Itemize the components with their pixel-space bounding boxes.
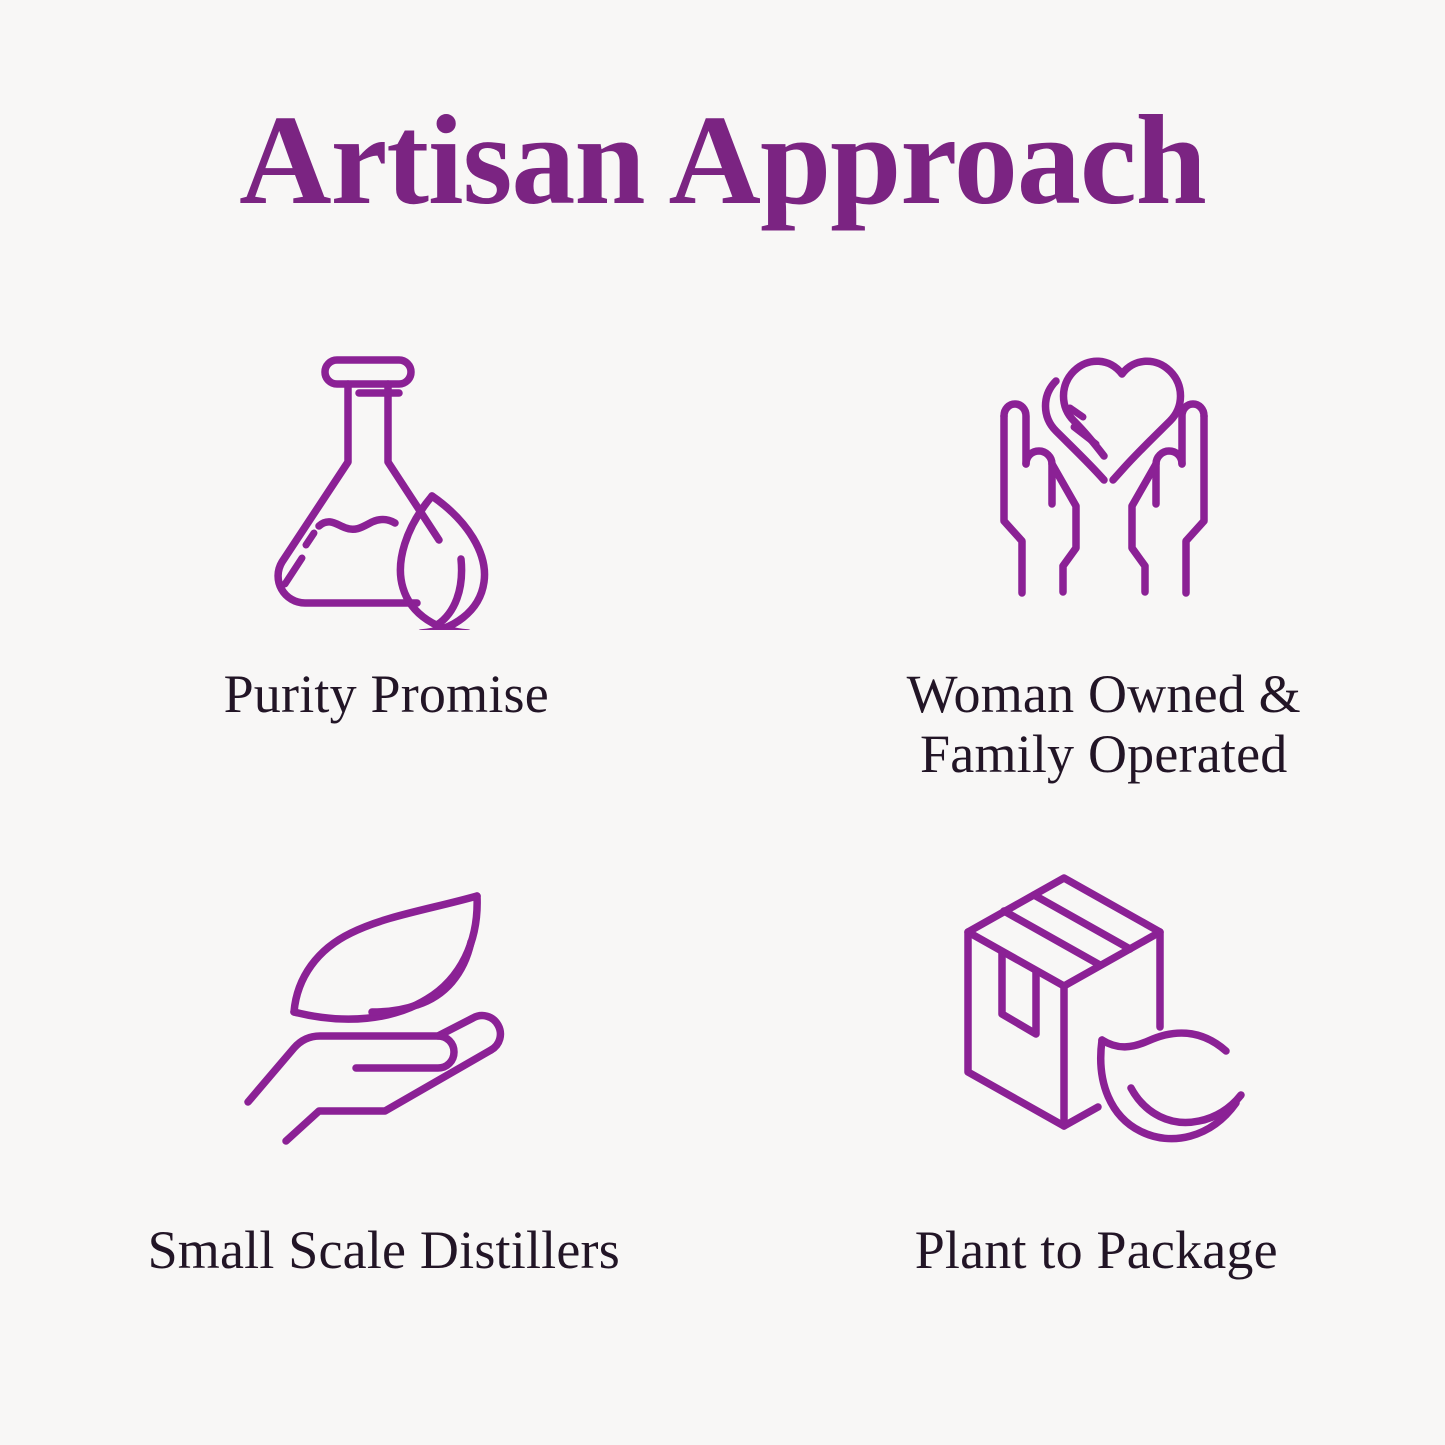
feature-label: Purity Promise bbox=[224, 664, 549, 724]
flask-leaf-icon bbox=[236, 330, 536, 630]
hand-holding-leaf-icon bbox=[234, 860, 534, 1160]
box-leaf-icon bbox=[946, 860, 1246, 1160]
page-title: Artisan Approach bbox=[0, 96, 1445, 224]
feature-item-woman-owned-family-operated: Woman Owned & Family Operated bbox=[723, 330, 1445, 860]
feature-item-purity-promise: Purity Promise bbox=[0, 330, 723, 860]
artisan-approach-graphic: Artisan Approach bbox=[0, 0, 1445, 1445]
hands-holding-heart-icon bbox=[954, 330, 1254, 630]
feature-item-small-scale-distillers: Small Scale Distillers bbox=[0, 860, 723, 1390]
feature-label: Small Scale Distillers bbox=[148, 1220, 620, 1280]
feature-grid: Purity Promise bbox=[0, 330, 1445, 1390]
feature-item-plant-to-package: Plant to Package bbox=[723, 860, 1445, 1390]
feature-label: Woman Owned & Family Operated bbox=[907, 664, 1301, 785]
feature-label: Plant to Package bbox=[915, 1220, 1278, 1280]
